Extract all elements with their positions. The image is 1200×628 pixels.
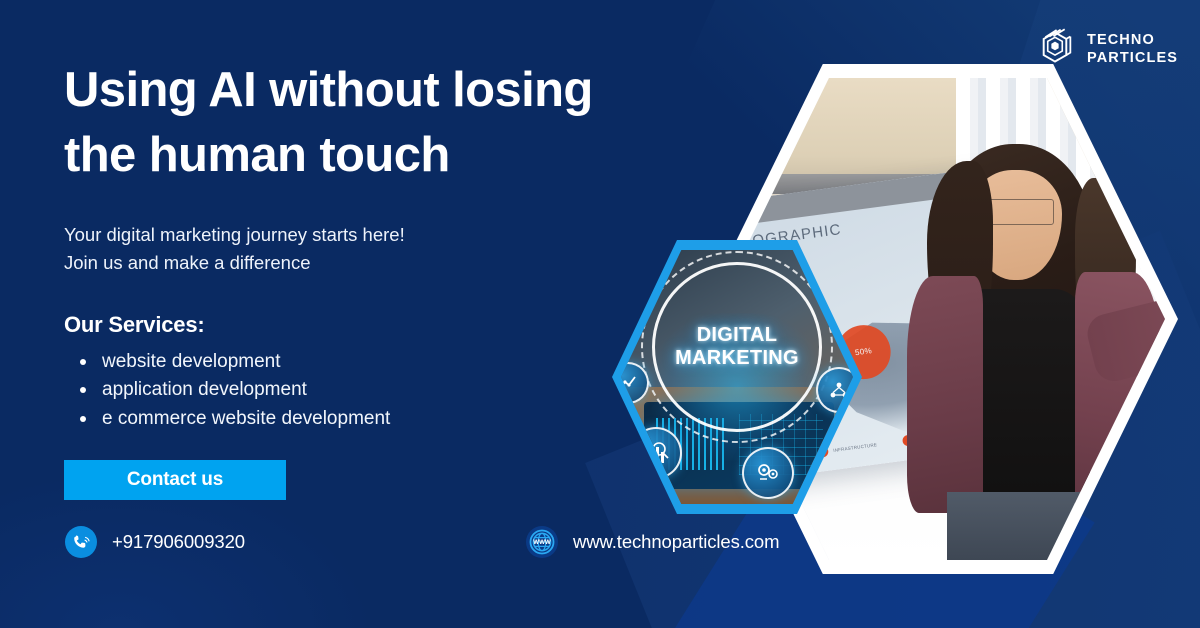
banner-canvas: TECHNO PARTICLES ON INFOGRAPHIC Region A…	[0, 0, 1200, 628]
brand-logo[interactable]: TECHNO PARTICLES	[1034, 26, 1178, 73]
svg-text:WWW: WWW	[533, 539, 551, 546]
hero-image-hexagon: ON INFOGRAPHIC Region ASIA 50% 80% RECON…	[698, 64, 1178, 574]
content-column: Using AI without losing the human touch …	[64, 0, 704, 628]
brand-name-line1: TECHNO	[1087, 32, 1155, 48]
contact-us-button[interactable]: Contact us	[64, 460, 286, 500]
digital-marketing-label: DIGITAL MARKETING	[621, 323, 853, 369]
brand-logo-text: TECHNO PARTICLES	[1087, 32, 1178, 67]
subtitle-line1: Your digital marketing journey starts he…	[64, 224, 405, 245]
dm-line2: MARKETING	[675, 347, 799, 369]
dm-line1: DIGITAL	[697, 323, 778, 345]
services-heading: Our Services:	[64, 312, 704, 338]
subtitle-line2: Join us and make a difference	[64, 252, 310, 273]
phone-call-icon	[64, 525, 98, 559]
digital-marketing-hexagon: DIGITAL MARKETING	[612, 240, 862, 514]
globe-www-icon: WWW	[525, 525, 559, 559]
contact-bar: +917906009320 WWW www.technoparticles.co…	[64, 525, 779, 559]
presenter-blazer-left	[907, 276, 983, 514]
gears-settings-icon	[742, 447, 794, 499]
subtitle: Your digital marketing journey starts he…	[64, 221, 534, 277]
page-title: Using AI without losing the human touch	[64, 58, 664, 187]
services-list: website development application developm…	[64, 348, 704, 435]
contact-phone[interactable]: +917906009320	[64, 525, 245, 559]
brand-name-line2: PARTICLES	[1087, 50, 1178, 66]
cube-hexagon-logo-icon	[1034, 26, 1076, 73]
phone-number: +917906009320	[112, 531, 245, 553]
